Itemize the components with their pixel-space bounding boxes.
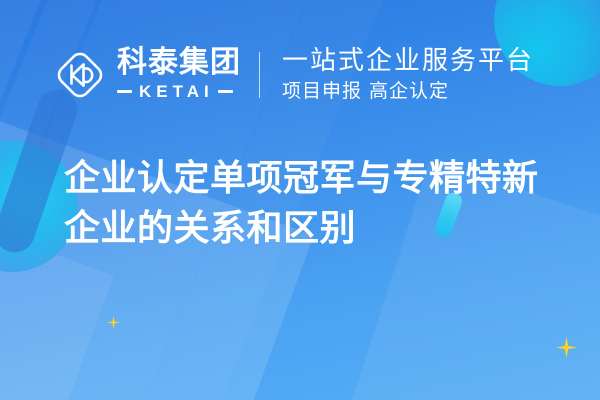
brand-name-en: KETAI [139,82,214,102]
promo-banner: 科泰集团 KETAI 一站式企业服务平台 项目申报 高企认定 企业认定单项冠军与… [0,0,600,400]
brand-rule-right-icon [218,90,233,93]
sparkle-right-icon [556,337,577,358]
ketai-diamond-kd-logo-icon [52,47,108,103]
banner-header: 科泰集团 KETAI 一站式企业服务平台 项目申报 高企认定 [0,36,600,114]
page-title-block: 企业认定单项冠军与专精特新企业的关系和区别 [64,154,564,253]
brand-text: 科泰集团 KETAI [117,48,241,102]
tagline-main: 一站式企业服务平台 [282,46,534,77]
header-divider [259,52,260,98]
brand-lockup: 科泰集团 KETAI [52,47,241,103]
brand-rule-left-icon [117,90,132,93]
sparkle-left-icon [107,316,120,329]
page-title: 企业认定单项冠军与专精特新企业的关系和区别 [64,154,564,253]
brand-name-cn: 科泰集团 [117,48,241,79]
brand-name-en-row: KETAI [117,82,241,102]
tagline-sub: 项目申报 高企认定 [282,79,534,104]
tagline-group: 一站式企业服务平台 项目申报 高企认定 [282,46,534,104]
